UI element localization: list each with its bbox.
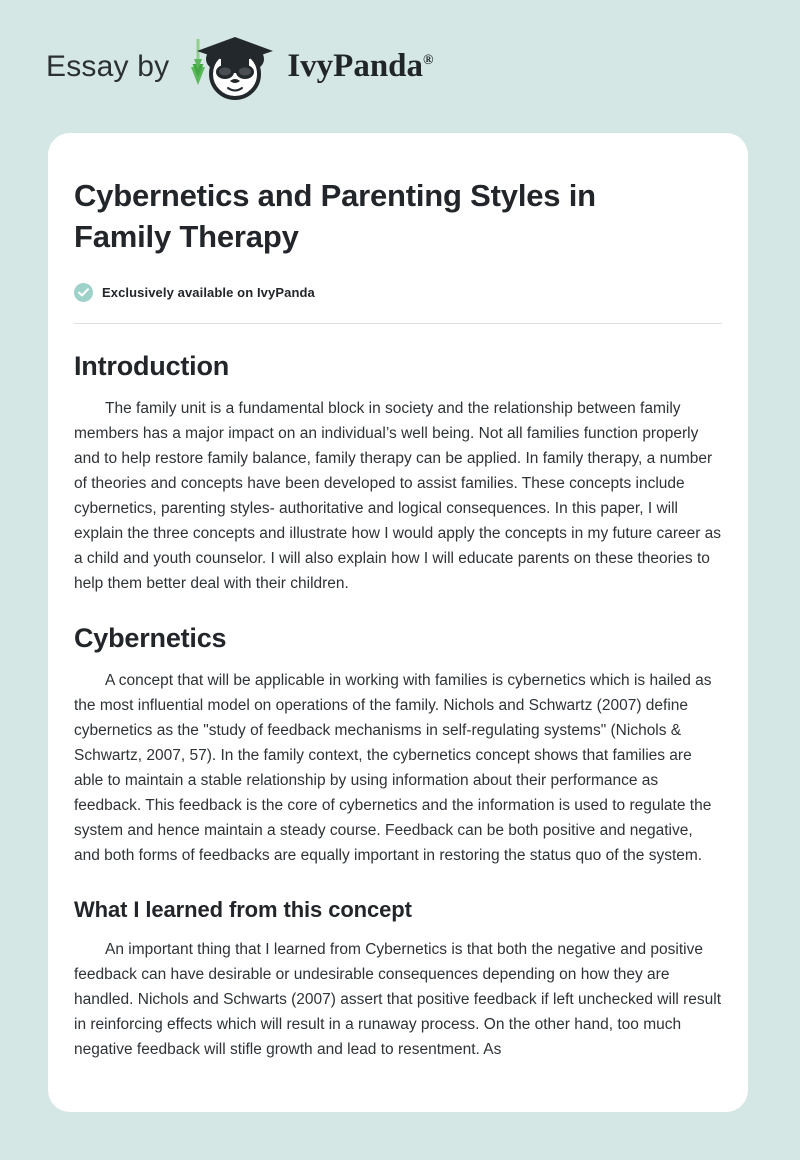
wordmark-text: IvyPanda	[287, 48, 423, 84]
section-heading-introduction: Introduction	[74, 351, 722, 382]
section-paragraph: An important thing that I learned from C…	[74, 937, 722, 1062]
section-heading-what-i-learned: What I learned from this concept	[74, 897, 722, 923]
essay-card: Cybernetics and Parenting Styles in Fami…	[48, 133, 748, 1112]
exclusive-badge-label: Exclusively available on IvyPanda	[102, 285, 315, 300]
section-paragraph: A concept that will be applicable in wor…	[74, 668, 722, 868]
panda-graduate-logo-icon	[183, 33, 279, 101]
title-divider	[74, 323, 722, 324]
section-heading-cybernetics: Cybernetics	[74, 623, 722, 654]
exclusive-badge: Exclusively available on IvyPanda	[74, 283, 722, 302]
site-header: Essay by	[0, 0, 800, 133]
essay-content: Cybernetics and Parenting Styles in Fami…	[74, 175, 722, 1062]
section-paragraph: The family unit is a fundamental block i…	[74, 396, 722, 596]
check-circle-icon	[74, 283, 93, 302]
page-title: Cybernetics and Parenting Styles in Fami…	[74, 175, 694, 257]
essay-by-label: Essay by	[46, 52, 169, 82]
ivypanda-wordmark: IvyPanda®	[287, 50, 433, 83]
brand-lockup[interactable]: Essay by	[46, 33, 434, 101]
ivypanda-logo[interactable]: IvyPanda®	[183, 33, 433, 101]
registered-trademark-symbol: ®	[423, 53, 433, 68]
